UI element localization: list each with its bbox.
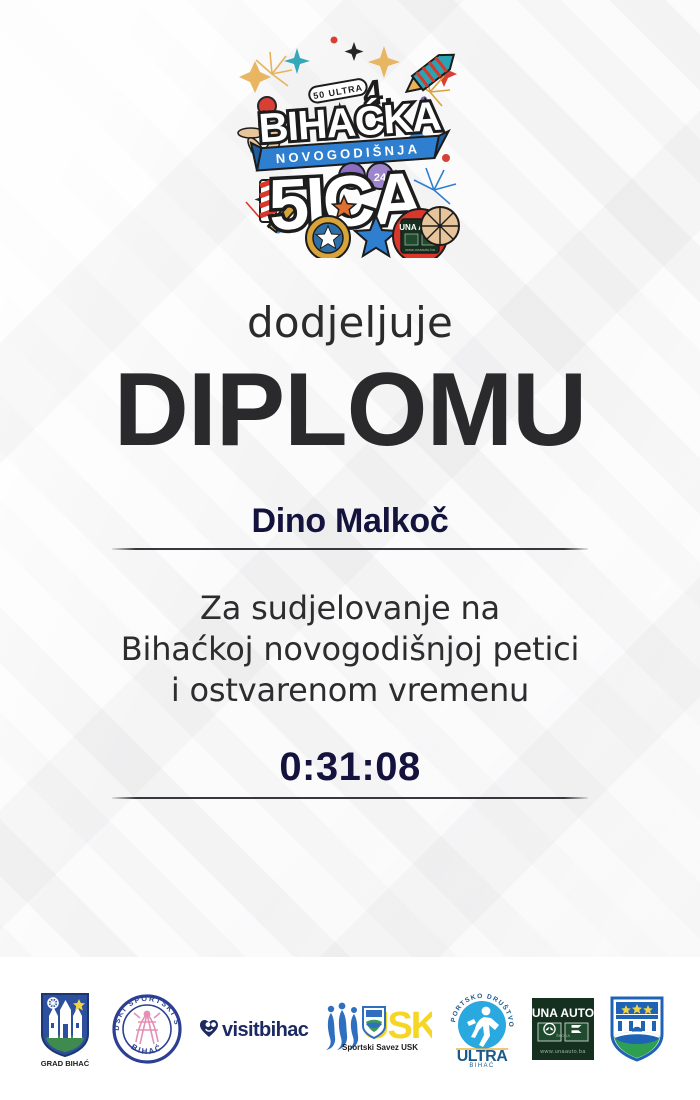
usk-shield	[363, 1007, 385, 1038]
sponsor-label-una-auto: UNA AUTO	[532, 1006, 594, 1020]
sponsor-logo-ultra-bihac: SPORTSKO DRUŠTVO ULTRA BIHAĆ	[446, 991, 518, 1067]
sponsor-logo-usk: USK Sportski Savez USK	[324, 998, 432, 1060]
sponsor-label-grad-bihac: GRAD BIHAĆ	[41, 1059, 90, 1068]
sponsor-logo-gradski-sportski-savez: GRADSKI SPORTSKI SAVEZ BIHAĆ	[110, 992, 184, 1066]
sponsor-logo-bar: GRAD BIHAĆ GRADSKI SPORTSKI SAVEZ BIHAĆ	[0, 957, 700, 1100]
description-line-1: Za sudjelovanje na	[0, 588, 700, 629]
sponsor-logo-grad-bihac: GRAD BIHAĆ	[34, 990, 96, 1068]
sponsor-logo-una-auto: UNA AUTO ŠKODA www.unaauto.ba	[532, 998, 594, 1060]
sponsor-sublabel-ultra: BIHAĆ	[469, 1062, 494, 1067]
description-text: Za sudjelovanje na Bihaćkoj novogodišnjo…	[0, 588, 700, 711]
description-line-2: Bihaćkoj novogodišnjoj petici	[0, 629, 700, 670]
sponsor-sublabel-una-auto: www.unaauto.ba	[539, 1049, 585, 1055]
result-time-underline	[112, 797, 588, 799]
sponsor-sublabel-usk: Sportski Savez USK	[342, 1043, 418, 1052]
sponsor-label-visitbihac: visitbihac	[222, 1019, 309, 1041]
svg-text:www.unaauto.ba: www.unaauto.ba	[405, 247, 435, 252]
event-logo: 50 ULTRA 4. BIHAĆKA NOVOGODIŠNJA	[234, 30, 466, 258]
certificate-content: 50 ULTRA 4. BIHAĆKA NOVOGODIŠNJA	[0, 30, 700, 799]
result-time: 0:31:08	[0, 747, 700, 787]
sponsor-logo-unsko-sanski-kanton	[608, 994, 666, 1064]
skoda-wordmark: ŠKODA	[556, 1033, 570, 1038]
awards-label: dodjeljuje	[0, 302, 700, 344]
heart-icon	[200, 1020, 218, 1037]
recipient-underline	[112, 548, 588, 550]
recipient-name: Dino Malkoč	[0, 504, 700, 538]
page-title: DIPLOMU	[0, 358, 700, 462]
sponsor-logo-visitbihac: visitbihac	[198, 1014, 310, 1044]
result-time-block: 0:31:08	[0, 747, 700, 799]
description-line-3: i ostvarenom vremenu	[0, 670, 700, 711]
certificate-page: 50 ULTRA 4. BIHAĆKA NOVOGODIŠNJA	[0, 0, 700, 1100]
recipient-block: Dino Malkoč	[0, 504, 700, 550]
